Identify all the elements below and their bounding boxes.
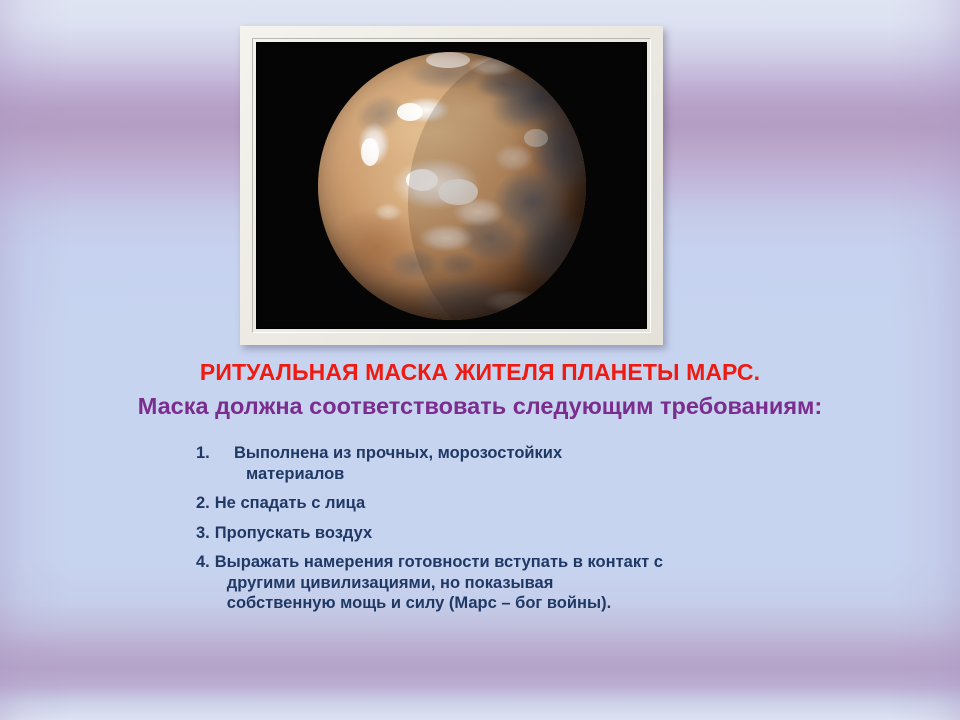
list-item: 2. Не спадать с лица [196,493,756,514]
slide-subtitle: Маска должна соответствовать следующим т… [0,393,960,420]
presentation-slide: РИТУАЛЬНАЯ МАСКА ЖИТЕЛЯ ПЛАНЕТЫ МАРС. Ма… [0,0,960,720]
list-item-text: Пропускать воздух [215,523,756,544]
list-item-line: материалов [234,464,756,485]
mars-sphere [318,52,586,320]
list-item: 4. Выражать намерения готовности вступат… [196,552,756,614]
slide-title: РИТУАЛЬНАЯ МАСКА ЖИТЕЛЯ ПЛАНЕТЫ МАРС. [0,359,960,386]
list-item-number: 1. [196,443,234,464]
list-item-text: Выполнена из прочных, морозостойких мате… [234,443,756,484]
list-item-number: 2. [196,493,215,514]
list-item-line: Выполнена из прочных, морозостойких [234,444,562,462]
list-item-number: 3. [196,523,215,544]
mars-photo-frame [240,26,663,345]
mars-photo [256,42,647,329]
list-item-line: Пропускать воздух [215,524,372,542]
list-item-number: 4. [196,552,215,573]
list-item-text: Выражать намерения готовности вступать в… [215,552,756,614]
list-item: 1. Выполнена из прочных, морозостойких м… [196,443,756,484]
list-item-line: Выражать намерения готовности вступать в… [215,553,663,571]
list-item: 3. Пропускать воздух [196,523,756,544]
list-item-line: собственную мощь и силу (Марс – бог войн… [215,593,756,614]
mars-surface-features [318,52,586,320]
list-item-text: Не спадать с лица [215,493,756,514]
list-item-line: Не спадать с лица [215,494,365,512]
list-item-line: другими цивилизациями, но показывая [215,573,756,594]
mars-planet-image [318,52,586,320]
requirements-list: 1. Выполнена из прочных, морозостойких м… [196,443,756,614]
